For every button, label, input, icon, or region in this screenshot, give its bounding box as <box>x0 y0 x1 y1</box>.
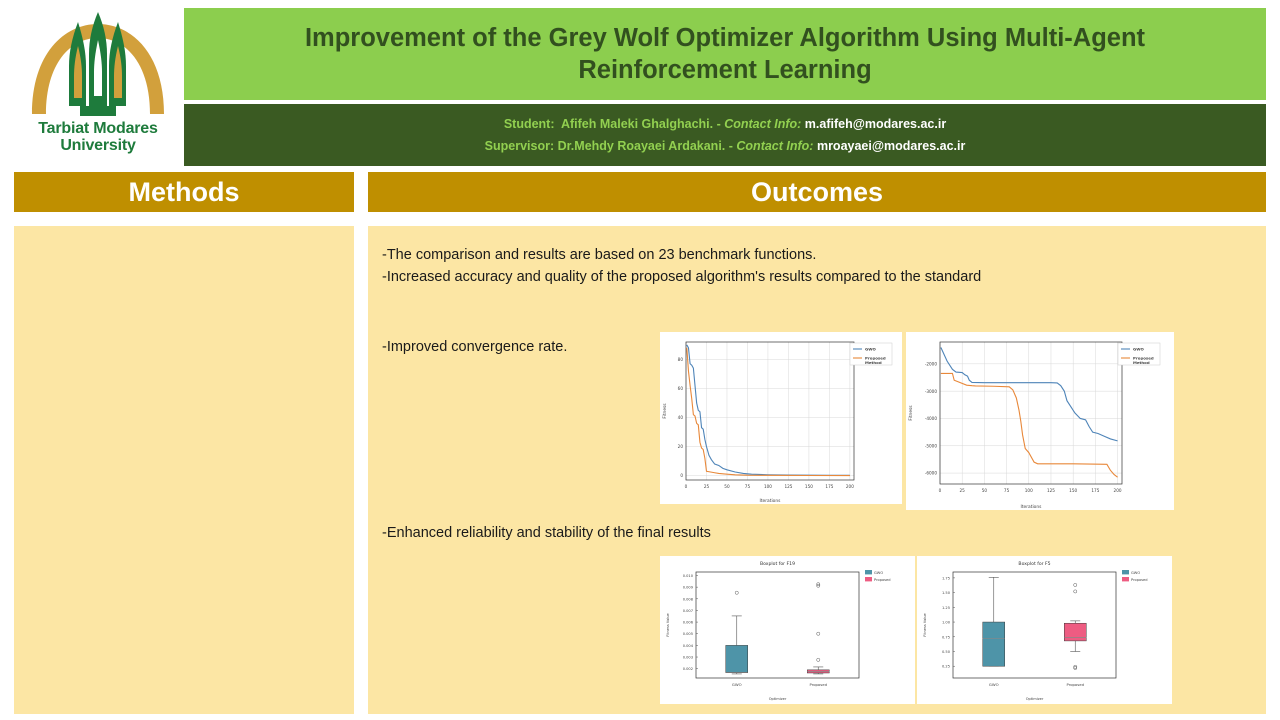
logo-line-2: University <box>14 137 182 154</box>
boxplot-chart-1-svg: Boxplot for F190.0020.0030.0040.0050.006… <box>660 556 915 704</box>
svg-text:0.006: 0.006 <box>683 621 694 625</box>
svg-text:0: 0 <box>939 488 942 493</box>
svg-text:GWO: GWO <box>865 347 876 352</box>
supervisor-name: Dr.Mehdy Roayaei Ardakani. - <box>558 139 733 153</box>
svg-text:0.010: 0.010 <box>683 574 694 578</box>
student-contact-line: Student: Afifeh Maleki Ghalghachi. - Con… <box>504 117 946 131</box>
logo-mark-icon <box>22 10 174 122</box>
svg-text:Fitness: Fitness <box>662 403 668 419</box>
logo-line-1: Tarbiat Modares <box>14 120 182 137</box>
svg-text:200: 200 <box>1114 488 1122 493</box>
svg-text:75: 75 <box>1004 488 1010 493</box>
svg-text:40: 40 <box>678 415 684 420</box>
svg-text:125: 125 <box>784 484 792 489</box>
svg-text:Optimizer: Optimizer <box>769 697 787 701</box>
svg-text:-3000: -3000 <box>925 389 938 394</box>
student-name: Afifeh Maleki Ghalghachi. - <box>561 117 721 131</box>
student-contact-label: Contact Info: <box>724 117 801 131</box>
svg-text:0.50: 0.50 <box>942 650 951 654</box>
svg-text:60: 60 <box>678 386 684 391</box>
poster-header: Tarbiat Modares University Improvement o… <box>0 0 1280 166</box>
svg-text:20: 20 <box>678 444 684 449</box>
supervisor-contact-label: Contact Info: <box>736 139 813 153</box>
svg-text:0.004: 0.004 <box>683 644 694 648</box>
svg-text:150: 150 <box>1069 488 1077 493</box>
svg-text:25: 25 <box>704 484 710 489</box>
svg-text:-2000: -2000 <box>925 361 938 366</box>
svg-text:Method: Method <box>1133 360 1150 365</box>
svg-text:Proposed: Proposed <box>810 682 828 687</box>
svg-text:50: 50 <box>982 488 988 493</box>
svg-text:GWO: GWO <box>732 682 742 687</box>
svg-text:GWO: GWO <box>989 682 999 687</box>
svg-text:Proposed: Proposed <box>1067 682 1085 687</box>
convergence-chart-1: 0255075100125150175200020406080Iteration… <box>660 332 902 504</box>
svg-text:Fitness: Fitness <box>908 405 914 421</box>
svg-text:50: 50 <box>724 484 730 489</box>
svg-text:1.00: 1.00 <box>942 621 951 625</box>
outcomes-section-header: Outcomes <box>368 172 1266 212</box>
outcomes-heading: Outcomes <box>751 177 883 207</box>
svg-text:-4000: -4000 <box>925 416 938 421</box>
outcomes-bullet-4: -Enhanced reliability and stability of t… <box>382 522 1042 544</box>
outcomes-bullet-2: -Increased accuracy and quality of the p… <box>382 266 1042 288</box>
svg-text:0.002: 0.002 <box>683 667 693 671</box>
convergence-chart-1-svg: 0255075100125150175200020406080Iteration… <box>660 332 902 504</box>
svg-text:Iterations: Iterations <box>760 498 782 504</box>
svg-text:Iterations: Iterations <box>1021 504 1043 510</box>
svg-text:100: 100 <box>764 484 772 489</box>
supervisor-email[interactable]: mroayaei@modares.ac.ir <box>817 139 965 153</box>
outcomes-bullet-1: -The comparison and results are based on… <box>382 244 1042 266</box>
logo-text: Tarbiat Modares University <box>14 120 182 154</box>
university-logo: Tarbiat Modares University <box>14 8 182 166</box>
svg-text:100: 100 <box>1025 488 1033 493</box>
convergence-chart-2: 0255075100125150175200-2000-3000-4000-50… <box>906 332 1174 510</box>
svg-text:1.75: 1.75 <box>942 576 950 580</box>
supervisor-label: Supervisor: <box>485 139 554 153</box>
svg-text:GWO: GWO <box>1131 571 1140 575</box>
convergence-chart-2-svg: 0255075100125150175200-2000-3000-4000-50… <box>906 332 1174 510</box>
svg-text:Boxplot for F19: Boxplot for F19 <box>760 561 795 567</box>
svg-text:Boxplot for F5: Boxplot for F5 <box>1018 561 1050 567</box>
svg-text:0.005: 0.005 <box>683 632 693 636</box>
svg-text:150: 150 <box>805 484 813 489</box>
svg-text:75: 75 <box>745 484 751 489</box>
svg-text:Proposed: Proposed <box>874 578 891 582</box>
svg-text:GWO: GWO <box>1133 347 1144 352</box>
svg-text:0.008: 0.008 <box>683 597 694 601</box>
svg-text:Fitness Value: Fitness Value <box>923 612 927 636</box>
poster-title-bar: Improvement of the Grey Wolf Optimizer A… <box>184 8 1266 100</box>
svg-text:200: 200 <box>846 484 854 489</box>
svg-text:0.75: 0.75 <box>942 635 950 639</box>
svg-text:Fitness Value: Fitness Value <box>666 612 670 636</box>
svg-text:1.50: 1.50 <box>942 591 951 595</box>
boxplot-chart-1: Boxplot for F190.0020.0030.0040.0050.006… <box>660 556 915 704</box>
contact-bar: Student: Afifeh Maleki Ghalghachi. - Con… <box>184 104 1266 166</box>
svg-text:1.25: 1.25 <box>942 606 950 610</box>
svg-text:Method: Method <box>865 360 882 365</box>
supervisor-contact-line: Supervisor: Dr.Mehdy Roayaei Ardakani. -… <box>485 139 966 153</box>
svg-text:175: 175 <box>825 484 833 489</box>
svg-text:25: 25 <box>960 488 966 493</box>
svg-text:-5000: -5000 <box>925 443 938 448</box>
svg-text:175: 175 <box>1091 488 1099 493</box>
svg-text:0.25: 0.25 <box>942 665 950 669</box>
methods-section-header: Methods <box>14 172 354 212</box>
poster-title: Improvement of the Grey Wolf Optimizer A… <box>216 22 1234 86</box>
svg-text:80: 80 <box>678 357 684 362</box>
methods-heading: Methods <box>129 177 240 207</box>
svg-text:0.003: 0.003 <box>683 656 693 660</box>
svg-text:-6000: -6000 <box>925 471 938 476</box>
svg-text:GWO: GWO <box>874 571 883 575</box>
boxplot-chart-2-svg: Boxplot for F50.250.500.751.001.251.501.… <box>917 556 1172 704</box>
svg-text:0: 0 <box>680 473 683 478</box>
svg-text:0: 0 <box>685 484 688 489</box>
student-label: Student: <box>504 117 555 131</box>
svg-text:125: 125 <box>1047 488 1055 493</box>
student-email[interactable]: m.afifeh@modares.ac.ir <box>805 117 946 131</box>
svg-text:Optimizer: Optimizer <box>1026 697 1044 701</box>
svg-text:Proposed: Proposed <box>1131 578 1148 582</box>
methods-panel <box>14 226 354 714</box>
svg-text:0.007: 0.007 <box>683 609 693 613</box>
boxplot-chart-2: Boxplot for F50.250.500.751.001.251.501.… <box>917 556 1172 704</box>
svg-text:0.009: 0.009 <box>683 586 694 590</box>
